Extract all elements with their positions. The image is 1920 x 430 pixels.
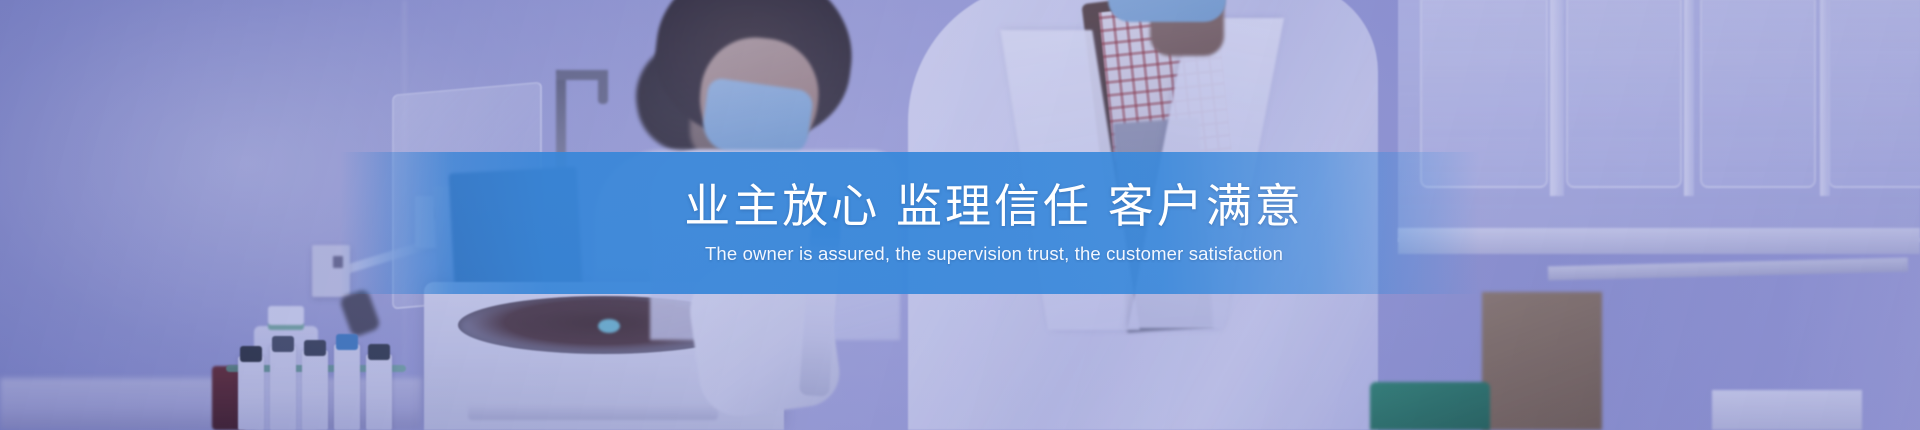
caption-band-content: 业主放心 监理信任 客户满意 The owner is assured, the… bbox=[340, 152, 1480, 294]
banner-subheadline: The owner is assured, the supervision tr… bbox=[705, 245, 1283, 264]
hero-banner: 业主放心 监理信任 客户满意 The owner is assured, the… bbox=[0, 0, 1920, 430]
caption-band: 业主放心 监理信任 客户满意 The owner is assured, the… bbox=[340, 152, 1480, 294]
banner-headline: 业主放心 监理信任 客户满意 bbox=[684, 183, 1304, 229]
